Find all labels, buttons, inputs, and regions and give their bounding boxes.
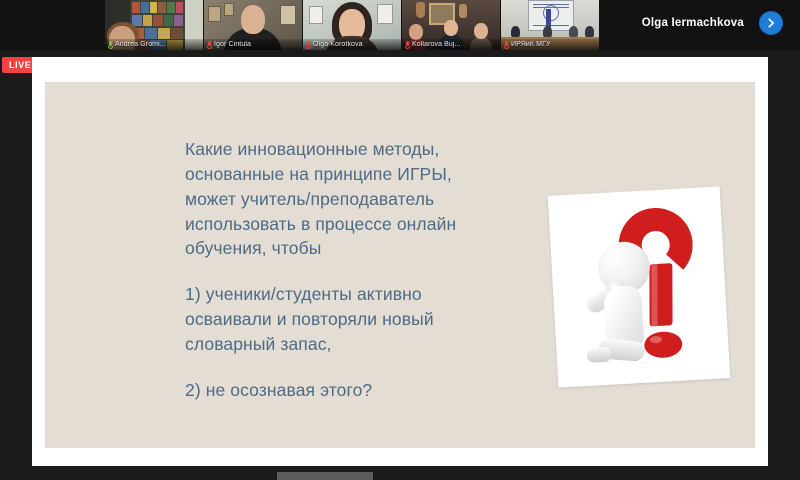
scrollbar-thumb[interactable] [277, 472, 373, 480]
zoom-meeting-window: Andrea Gromi... Igor Cintula [0, 0, 800, 480]
slide-text-block: Какие инновационные методы, основанные н… [185, 137, 495, 403]
slide-paragraph-1: 1) ученики/студенты активно осваивали и … [185, 282, 495, 357]
mic-muted-red-icon [207, 41, 212, 49]
horizontal-scrollbar[interactable] [0, 471, 800, 480]
next-participants-button[interactable] [759, 11, 783, 35]
slide-paragraph-0: Какие инновационные методы, основанные н… [185, 137, 495, 261]
mic-muted-red-icon [405, 41, 410, 49]
participant-name-bar: Olga Korotkova [303, 39, 401, 50]
participant-name: Igor Cintula [214, 41, 251, 48]
participant-tile-4[interactable]: ИРЯиК МГУ [501, 0, 599, 50]
mic-muted-green-icon [108, 41, 113, 49]
shared-screen-area: Какие инновационные методы, основанные н… [32, 57, 768, 466]
participant-tile-3[interactable]: Kollarova Buj... [402, 0, 500, 50]
participant-name-bar: Kollarova Buj... [402, 39, 500, 50]
slide-paragraph-2: 2) не осознавая этого? [185, 378, 495, 403]
participant-name-bar: ИРЯиК МГУ [501, 39, 599, 50]
participant-name: ИРЯиК МГУ [511, 41, 551, 48]
participant-name: Olga Korotkova [313, 41, 363, 48]
chevron-right-icon [765, 17, 777, 29]
presentation-slide: Какие инновационные методы, основанные н… [45, 82, 755, 448]
participant-name: Kollarova Buj... [412, 41, 461, 48]
participant-name-bar: Igor Cintula [204, 39, 302, 50]
participant-tile-1[interactable]: Igor Cintula [204, 0, 302, 50]
participant-name-bar: Andrea Gromi... [105, 39, 203, 50]
question-mark-image [548, 186, 730, 387]
active-speaker-name: Olga Iermachkova [642, 17, 744, 29]
participant-tile-2[interactable]: Olga Korotkova [303, 0, 401, 50]
participant-tile-0[interactable]: Andrea Gromi... [105, 0, 203, 50]
thinking-figure-icon [579, 240, 670, 374]
mic-muted-red-icon [504, 41, 509, 49]
mic-muted-red-icon [306, 41, 311, 49]
participant-name: Andrea Gromi... [115, 41, 166, 48]
